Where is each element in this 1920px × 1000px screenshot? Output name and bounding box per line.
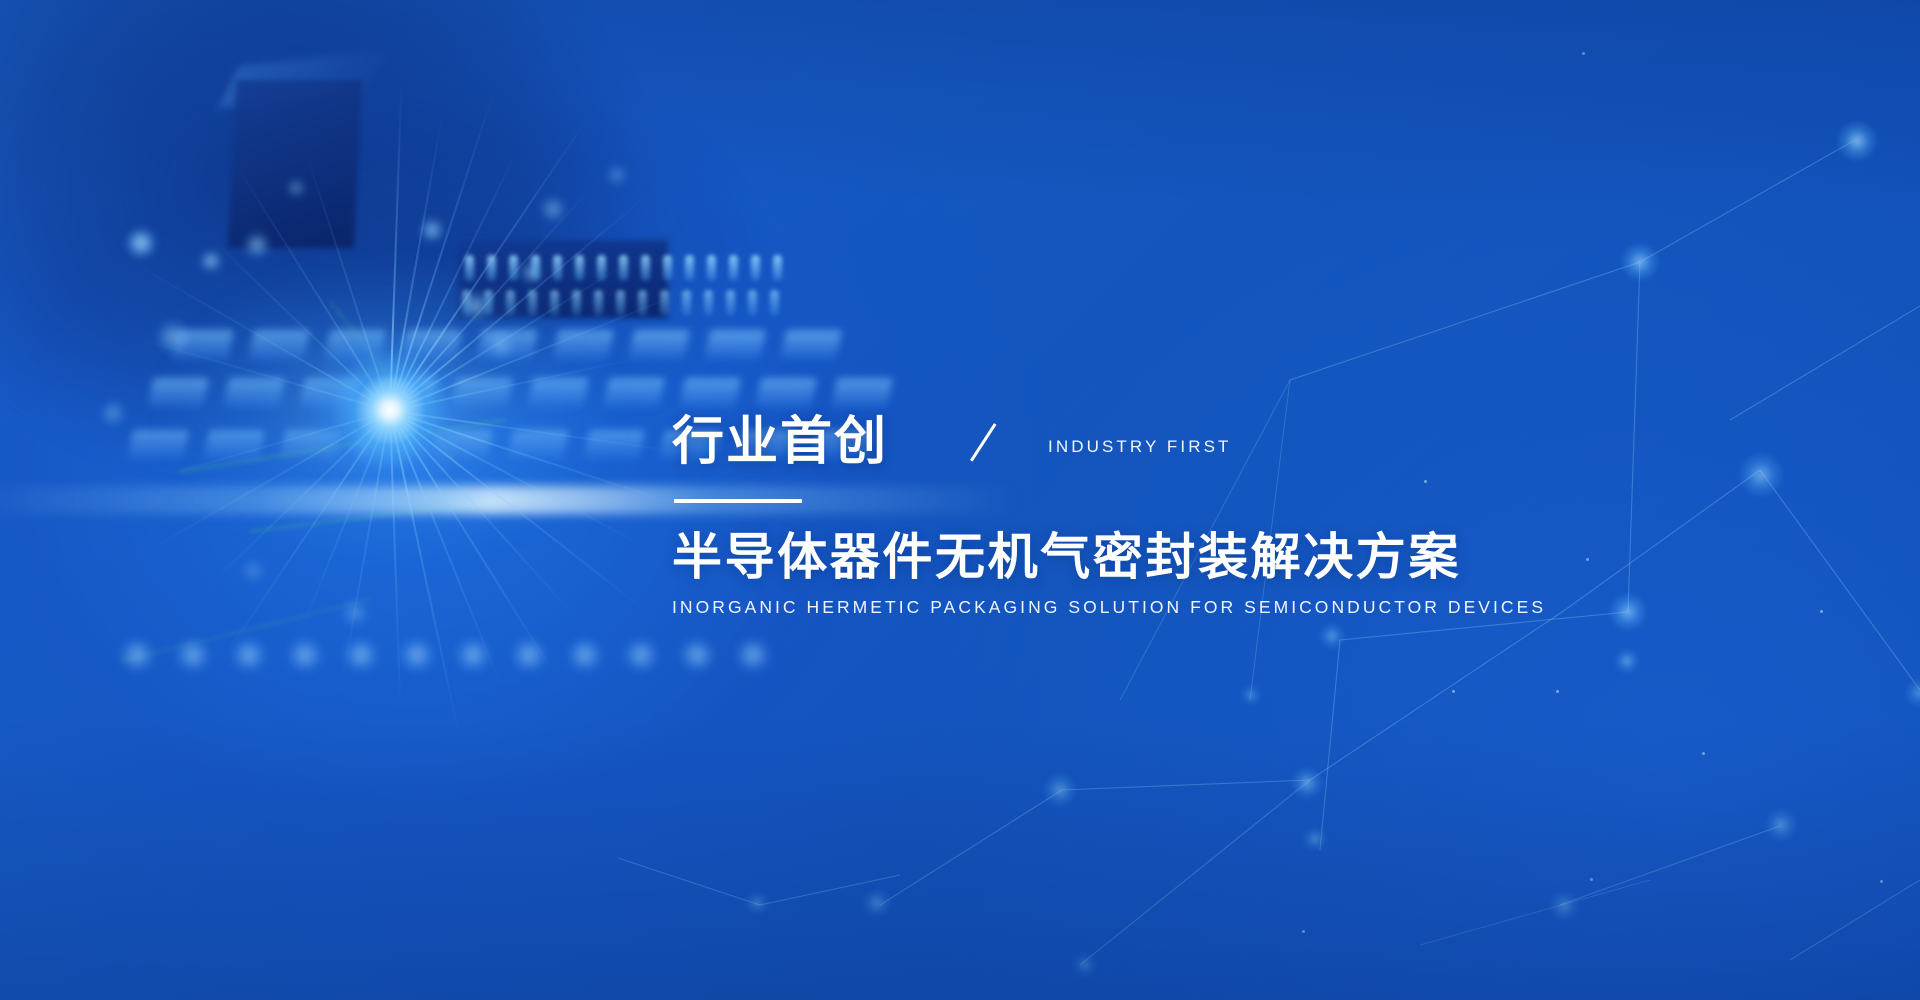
hero-text-block: 行业首创 INDUSTRY FIRST 半导体器件无机气密封装解决方案 INOR… [672,406,1572,618]
diagonal-slash-icon [966,422,1010,462]
kicker-chinese: 行业首创 [672,416,888,468]
horizontal-rule-icon [674,499,802,503]
headline-english: INORGANIC HERMETIC PACKAGING SOLUTION FO… [672,597,1572,618]
eyebrow-row: 行业首创 INDUSTRY FIRST [672,406,1572,468]
headline-chinese: 半导体器件无机气密封装解决方案 [672,530,1572,584]
kicker-english: INDUSTRY FIRST [1048,437,1232,457]
hero-banner: 行业首创 INDUSTRY FIRST 半导体器件无机气密封装解决方案 INOR… [0,0,1920,1000]
